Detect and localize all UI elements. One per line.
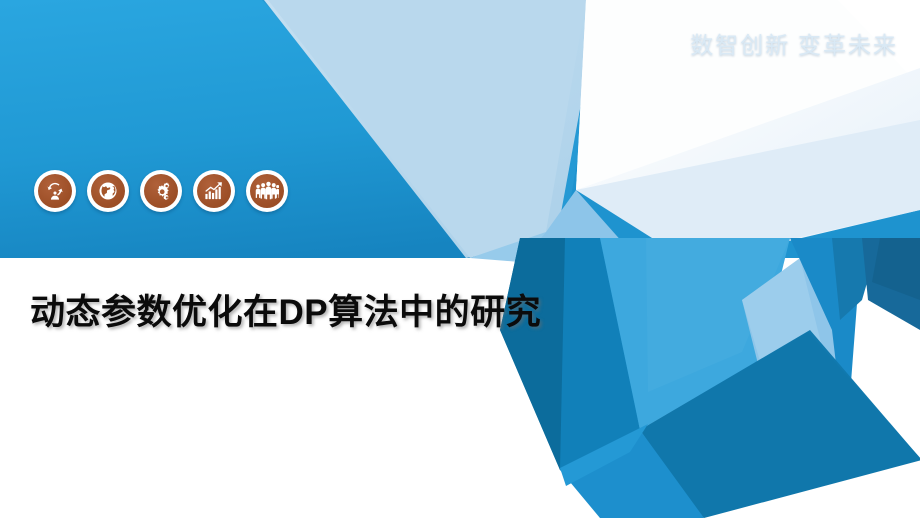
title-block: 动态参数优化在DP算法中的研究 [30,288,550,339]
globe-icon [91,174,125,208]
title-slide: 数智创新 变革未来 [0,0,920,518]
page-title: 动态参数优化在DP算法中的研究 [30,288,550,339]
polygon-cluster-lower [500,238,920,518]
icon-badge-people-group[interactable] [246,170,288,212]
bar-chart-growth-icon [197,174,231,208]
gears-icon [144,174,178,208]
icon-badge-globe[interactable] [87,170,129,212]
tagline: 数智创新 变革未来 [690,26,898,60]
recycle-people-icon [38,174,72,208]
icon-badge-recycle-people[interactable] [34,170,76,212]
people-group-icon [250,174,284,208]
icon-badge-gears[interactable] [140,170,182,212]
icon-row [34,170,288,212]
icon-badge-bar-chart-growth[interactable] [193,170,235,212]
background-artwork [0,0,920,518]
